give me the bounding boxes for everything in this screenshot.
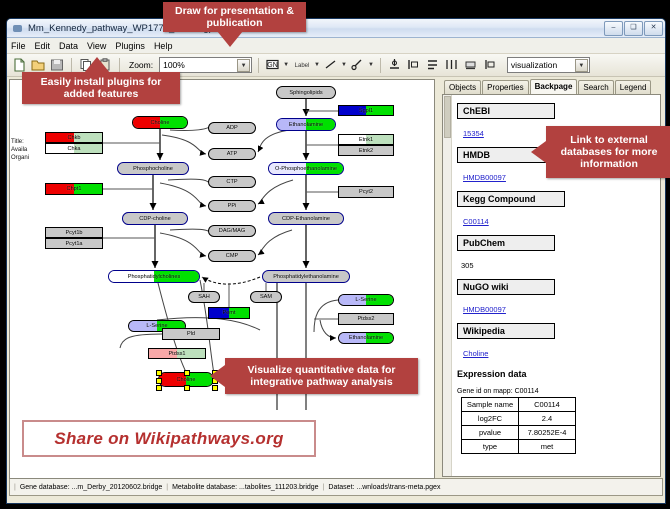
visualization-value: visualization xyxy=(511,60,557,70)
expression-table: Sample name C00114 log2FC 2.4 pvalue 7.8… xyxy=(461,397,576,454)
pubchem-header: PubChem xyxy=(457,235,555,251)
datanode-icon[interactable]: GN xyxy=(265,57,281,73)
node-label: Chkb xyxy=(67,135,80,141)
status-separator: | xyxy=(323,484,325,491)
status-dataset: Dataset: ...wnloads\trans-meta.pgex xyxy=(328,484,440,491)
status-separator: | xyxy=(166,484,168,491)
align-left-icon[interactable] xyxy=(406,57,422,73)
open-folder-icon[interactable] xyxy=(30,57,46,73)
node-label: Etnk1 xyxy=(359,137,373,143)
menu-item-plugins[interactable]: Plugins xyxy=(115,41,145,51)
chevron-down-icon[interactable]: ▼ xyxy=(237,59,250,72)
node-label: CDP-choline xyxy=(139,216,170,222)
node-label: CDP-Ethanolamine xyxy=(282,216,330,222)
gene-node-ptdss2[interactable]: Ptdss2 xyxy=(338,313,394,325)
meta-title-label: Title: xyxy=(11,138,29,146)
row-value: 2.4 xyxy=(519,412,576,426)
app-icon xyxy=(12,23,23,34)
nugo-link[interactable]: HMDB00097 xyxy=(463,305,506,314)
node-label: O-Phosphoethanolamine xyxy=(275,166,337,172)
save-icon[interactable] xyxy=(49,57,65,73)
gene-node-ptdss1[interactable]: Ptdss1 xyxy=(148,348,206,359)
metabolite-node-ppi[interactable]: PPi xyxy=(208,200,256,212)
nugo-header: NuGO wiki xyxy=(457,279,555,295)
metabolite-node-cdp-ethanolamine[interactable]: CDP-Ethanolamine xyxy=(268,212,344,225)
title-bar: Mm_Kennedy_pathway_WP1771_45176.gpml – ❑… xyxy=(7,19,665,38)
kegg-link[interactable]: C00114 xyxy=(463,217,489,226)
chebi-header: ChEBI xyxy=(457,103,555,119)
callout-share: Share on Wikipathways.org xyxy=(22,420,316,457)
node-label: Sphingolipids xyxy=(289,90,322,96)
node-label: Ptdss2 xyxy=(357,316,374,322)
node-half-right xyxy=(191,329,219,339)
callout-visualize-arrow-icon xyxy=(210,365,225,387)
node-label: Chka xyxy=(67,146,80,152)
wikipedia-header: Wikipedia xyxy=(457,323,555,339)
node-label: Phosphocholine xyxy=(133,166,173,172)
minimize-button[interactable]: – xyxy=(604,21,623,36)
row-key: pvalue xyxy=(462,426,519,440)
status-bar: | Gene database: ...m_Derby_20120602.bri… xyxy=(9,478,663,496)
node-label: Pcyt1b xyxy=(65,230,82,236)
group-icon[interactable] xyxy=(463,57,479,73)
gene-id-line: Gene id on mapp: C00114 xyxy=(457,388,654,395)
table-row: Sample name C00114 xyxy=(462,398,576,412)
menu-item-file[interactable]: File xyxy=(11,41,26,51)
metabolite-node-phosphatidylcholines[interactable]: Phosphatidylcholines xyxy=(108,270,200,283)
metabolite-node-sphingolipids[interactable]: Sphingolipids xyxy=(276,86,336,99)
stack-icon[interactable] xyxy=(425,57,441,73)
selection-handle[interactable] xyxy=(184,385,190,391)
node-label: Sgpl1 xyxy=(359,108,373,114)
metabolite-node-sah[interactable]: SAH xyxy=(188,291,220,303)
menu-bar: File Edit Data View Plugins Help xyxy=(7,38,665,54)
metabolite-node-phosphatidylethanolamine[interactable]: Phosphatidylethanolamine xyxy=(262,270,350,283)
metabolite-node-l-serine[interactable]: L-Serine xyxy=(338,294,394,306)
table-row: log2FC 2.4 xyxy=(462,412,576,426)
row-value: C00114 xyxy=(519,398,576,412)
gene-node-pcyt1a[interactable]: Pcyt1a xyxy=(45,238,103,249)
gene-node-pld[interactable]: Pld xyxy=(162,328,220,340)
metabolite-node-phosphocholine[interactable]: Phosphocholine xyxy=(117,162,189,175)
toolbar-separator-4 xyxy=(380,58,381,73)
selection-handle[interactable] xyxy=(156,370,162,376)
metabolite-node-ctp[interactable]: CTP xyxy=(208,176,256,188)
menu-item-help[interactable]: Help xyxy=(154,41,173,51)
pathway-canvas[interactable]: Title: Availa Organi xyxy=(9,79,435,479)
node-label: L-Serine xyxy=(146,323,167,329)
backpage-scrollbar[interactable] xyxy=(443,95,452,476)
node-label: SAH xyxy=(198,294,210,300)
gene-node-sgpl1[interactable]: Sgpl1 xyxy=(338,105,394,116)
kegg-header: Kegg Compound xyxy=(457,191,565,207)
metabolite-node-sam[interactable]: SAM xyxy=(250,291,282,303)
anchor-icon[interactable] xyxy=(350,57,366,73)
toolbar-separator-1 xyxy=(71,58,72,73)
node-label: CMP xyxy=(226,253,238,259)
callout-visualize: Visualize quantitative data for integrat… xyxy=(225,358,418,394)
label-icon[interactable]: Label xyxy=(292,57,312,73)
svg-text:GN: GN xyxy=(267,62,278,69)
table-row: pvalue 7.80252E-4 xyxy=(462,426,576,440)
line-icon[interactable] xyxy=(323,57,339,73)
callout-plugins: Easily install plugins for added feature… xyxy=(22,72,180,104)
row-key: log2FC xyxy=(462,412,519,426)
svg-text:Label: Label xyxy=(295,63,310,69)
toolbar-separator-2 xyxy=(119,58,120,73)
node-label: Phosphatidylcholines xyxy=(128,274,181,280)
gene-node-etnk1[interactable]: Etnk1 xyxy=(338,134,394,145)
zoom-label: Zoom: xyxy=(129,60,153,70)
anchor-dropdown-icon[interactable]: ▼ xyxy=(368,62,374,68)
new-file-icon[interactable] xyxy=(11,57,27,73)
maximize-button[interactable]: ❑ xyxy=(624,21,643,36)
wikipedia-link[interactable]: Choline xyxy=(463,349,488,358)
chevron-down-icon[interactable]: ▼ xyxy=(575,59,588,72)
status-metabolite-database: Metabolite database: ...tabolites_111203… xyxy=(172,484,318,491)
row-key: Sample name xyxy=(462,398,519,412)
align-top-icon[interactable] xyxy=(387,57,403,73)
window-controls: – ❑ ✕ xyxy=(604,21,665,36)
tab-legend[interactable]: Legend xyxy=(615,80,652,94)
menu-item-edit[interactable]: Edit xyxy=(35,41,51,51)
pubchem-value: 305 xyxy=(461,261,474,270)
tab-backpage[interactable]: Backpage xyxy=(530,79,578,94)
visualization-combobox[interactable]: visualization ▼ xyxy=(507,57,590,73)
metabolite-node-o-phosphoethanolamine[interactable]: O-Phosphoethanolamine xyxy=(268,162,344,175)
node-label: SAM xyxy=(260,294,272,300)
metabolite-node-cmp[interactable]: CMP xyxy=(208,250,256,262)
toolbar-separator-3 xyxy=(258,58,259,73)
node-label: Phosphatidylethanolamine xyxy=(273,274,339,280)
selection-handle[interactable] xyxy=(156,378,162,384)
meta-organism-label: Organi xyxy=(11,154,29,162)
gene-node-pemt[interactable]: Pemt xyxy=(208,307,250,319)
zoom-value: 100% xyxy=(163,60,185,70)
node-label: Ptdss1 xyxy=(168,351,185,357)
callout-draw: Draw for presentation & publication xyxy=(163,2,306,32)
row-value: met xyxy=(519,440,576,454)
metabolite-node-ethanolamine[interactable]: Ethanolamine xyxy=(276,118,336,131)
node-label: Pcyt2 xyxy=(359,189,373,195)
table-row: type met xyxy=(462,440,576,454)
callout-plugins-arrow-icon xyxy=(84,57,110,73)
row-value: 7.80252E-4 xyxy=(519,426,576,440)
node-label: Ethanolamine xyxy=(349,335,383,341)
selection-handle[interactable] xyxy=(184,370,190,376)
zoom-combobox[interactable]: 100% ▼ xyxy=(159,57,252,73)
node-label: Chpt1 xyxy=(67,186,82,192)
metabolite-node-choline[interactable]: Choline xyxy=(132,116,188,129)
datanode-dropdown-icon[interactable]: ▼ xyxy=(283,62,289,68)
gene-node-chka[interactable]: Chka xyxy=(45,143,103,154)
node-label: Choline xyxy=(151,120,170,126)
distribute-icon[interactable] xyxy=(444,57,460,73)
callout-links-arrow-icon xyxy=(531,141,546,163)
callout-draw-arrow-icon xyxy=(217,31,243,47)
metabolite-node-atp[interactable]: ATP xyxy=(208,148,256,160)
hmdb-link[interactable]: HMDB00097 xyxy=(463,173,506,182)
node-label: PPi xyxy=(228,203,237,209)
metabolite-node-adp[interactable]: ADP xyxy=(208,122,256,134)
gene-node-etnk2[interactable]: Etnk2 xyxy=(338,145,394,156)
metabolite-node-cdp-choline[interactable]: CDP-choline xyxy=(122,212,188,225)
node-label: Etnk2 xyxy=(359,148,373,154)
chebi-link[interactable]: 15354 xyxy=(463,129,484,138)
meta-available-label: Availa xyxy=(11,146,29,154)
node-label: Pcyt1a xyxy=(65,241,82,247)
metabolite-node-ethanolamine[interactable]: Ethanolamine xyxy=(338,332,394,344)
metabolite-node-dag-mag[interactable]: DAG/MAG xyxy=(208,225,256,237)
node-label: Choline xyxy=(177,377,196,383)
pathway-meta: Title: Availa Organi xyxy=(11,138,29,162)
line-dropdown-icon[interactable]: ▼ xyxy=(341,62,347,68)
menu-item-view[interactable]: View xyxy=(87,41,106,51)
side-tabs: Objects Properties Backpage Search Legen… xyxy=(438,79,663,94)
tab-search[interactable]: Search xyxy=(578,80,613,94)
expression-data-title: Expression data xyxy=(457,369,654,379)
status-gene-database: Gene database: ...m_Derby_20120602.bridg… xyxy=(20,484,162,491)
tab-properties[interactable]: Properties xyxy=(482,80,528,94)
menu-item-data[interactable]: Data xyxy=(59,41,78,51)
status-separator: | xyxy=(14,484,16,491)
callout-links: Link to external databases for more info… xyxy=(546,126,670,178)
node-label: ADP xyxy=(226,125,238,131)
gene-node-pcyt1b[interactable]: Pcyt1b xyxy=(45,227,103,238)
order-icon[interactable] xyxy=(482,57,498,73)
node-label: L-Serine xyxy=(355,297,376,303)
label-dropdown-icon[interactable]: ▼ xyxy=(314,62,320,68)
node-label: CTP xyxy=(226,179,237,185)
tab-objects[interactable]: Objects xyxy=(444,80,481,94)
node-label: ATP xyxy=(227,151,237,157)
node-label: DAG/MAG xyxy=(219,228,245,234)
node-label: Pld xyxy=(187,331,195,337)
close-button[interactable]: ✕ xyxy=(644,21,663,36)
gene-node-chkb[interactable]: Chkb xyxy=(45,132,103,143)
node-label: Ethanolamine xyxy=(289,122,323,128)
row-key: type xyxy=(462,440,519,454)
gene-node-pcyt2[interactable]: Pcyt2 xyxy=(338,186,394,198)
selection-handle[interactable] xyxy=(156,385,162,391)
node-label: Pemt xyxy=(222,310,235,316)
gene-node-chpt1[interactable]: Chpt1 xyxy=(45,183,103,195)
